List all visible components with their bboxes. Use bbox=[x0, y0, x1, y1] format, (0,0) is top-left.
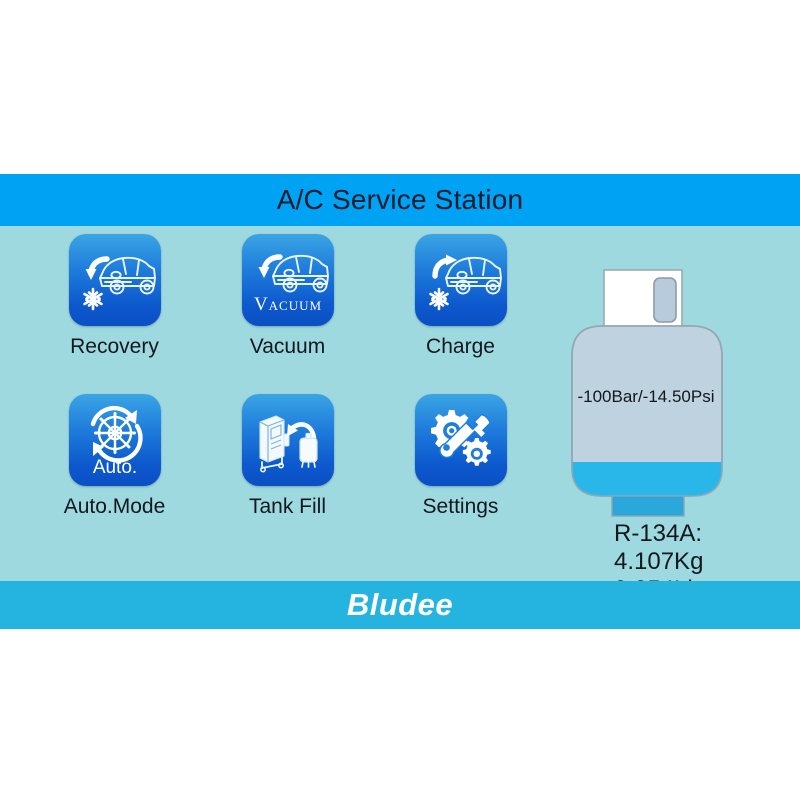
tank-body bbox=[570, 326, 734, 502]
vacuum-icon-text: Vacuum bbox=[253, 294, 321, 315]
menu-item-settings[interactable]: Settings bbox=[374, 394, 547, 554]
tank-pressure-readout: -100Bar/-14.50Psi bbox=[556, 387, 736, 407]
recovery-button[interactable] bbox=[69, 234, 161, 326]
tank-valve-handle bbox=[654, 278, 676, 322]
menu-row: Auto. Auto.Mode bbox=[28, 394, 548, 554]
footer-bar: Bludee bbox=[0, 581, 800, 629]
menu-item-charge[interactable]: Charge bbox=[374, 234, 547, 394]
menu-item-label: Settings bbox=[423, 495, 499, 519]
tank-fill-button[interactable] bbox=[242, 394, 334, 486]
title-bar: A/C Service Station bbox=[0, 174, 800, 226]
refrigerant-tank-panel: -100Bar/-14.50Psi R-134A: 4.107Kg 9.054L… bbox=[556, 268, 776, 578]
gears-wrench-icon bbox=[415, 394, 507, 486]
auto-icon-text: Auto. bbox=[92, 457, 136, 478]
auto-mode-button[interactable]: Auto. bbox=[69, 394, 161, 486]
menu-item-label: Vacuum bbox=[250, 335, 325, 359]
menu-item-vacuum[interactable]: Vacuum Vacuum bbox=[201, 234, 374, 394]
menu-item-label: Recovery bbox=[70, 335, 159, 359]
car-charge-snowflake-icon bbox=[415, 234, 507, 326]
ac-service-station-panel: A/C Service Station bbox=[0, 174, 800, 629]
menu-item-tank-fill[interactable]: Tank Fill bbox=[201, 394, 374, 554]
auto-wheel-cycle-icon: Auto. bbox=[69, 394, 161, 486]
menu-item-auto-mode[interactable]: Auto. Auto.Mode bbox=[28, 394, 201, 554]
machine-to-tank-icon bbox=[242, 394, 334, 486]
refrigerant-type: R-134A: bbox=[614, 520, 703, 548]
tank-base bbox=[612, 496, 684, 516]
settings-button[interactable] bbox=[415, 394, 507, 486]
car-recovery-snowflake-icon bbox=[69, 234, 161, 326]
vacuum-button[interactable]: Vacuum bbox=[242, 234, 334, 326]
page-title: A/C Service Station bbox=[277, 184, 524, 216]
car-vacuum-icon: Vacuum bbox=[242, 234, 334, 326]
refrigerant-weight-kg: 4.107Kg bbox=[614, 548, 703, 576]
menu-item-recovery[interactable]: Recovery bbox=[28, 234, 201, 394]
device-screen: A/C Service Station bbox=[0, 0, 800, 800]
brand-logo: Bludee bbox=[347, 587, 453, 623]
menu-row: Recovery bbox=[28, 234, 548, 394]
menu-item-label: Charge bbox=[426, 335, 495, 359]
menu-item-label: Auto.Mode bbox=[64, 495, 166, 519]
menu-item-label: Tank Fill bbox=[249, 495, 326, 519]
main-content: Recovery bbox=[0, 226, 800, 581]
charge-button[interactable] bbox=[415, 234, 507, 326]
function-menu-grid: Recovery bbox=[28, 234, 548, 574]
